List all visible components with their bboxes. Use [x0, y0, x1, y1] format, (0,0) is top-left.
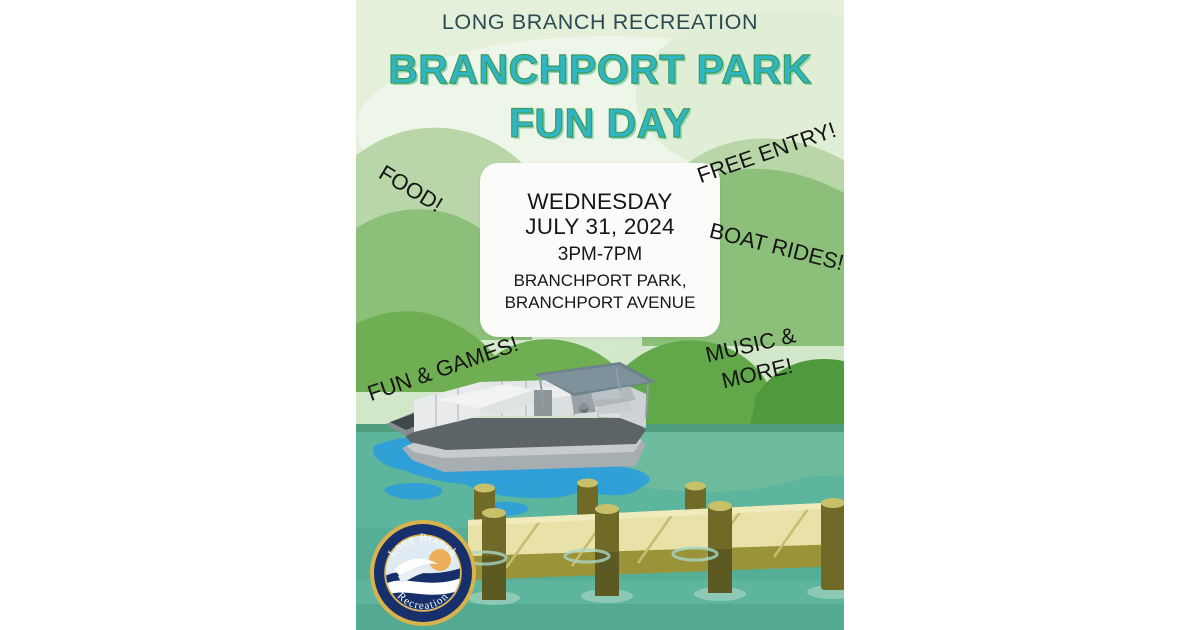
poster-eyebrow: LONG BRANCH RECREATION: [356, 10, 844, 35]
poster-title-line-1: BRANCHPORT PARK: [356, 46, 844, 93]
long-branch-recreation-logo: Long Branch Recreation: [368, 518, 478, 628]
event-flyer-poster: Long Branch Recreation LONG BRANCH RECRE…: [356, 0, 844, 630]
event-time: 3PM-7PM: [558, 244, 642, 265]
event-venue-line-1: BRANCHPORT PARK,: [514, 271, 687, 291]
event-info-card: WEDNESDAY JULY 31, 2024 3PM-7PM BRANCHPO…: [480, 163, 720, 337]
event-day: WEDNESDAY: [527, 189, 672, 214]
event-venue-line-2: BRANCHPORT AVENUE: [505, 293, 696, 313]
dock-deck: [468, 502, 844, 580]
event-date: JULY 31, 2024: [525, 214, 674, 239]
screenshot-canvas: Long Branch Recreation LONG BRANCH RECRE…: [0, 0, 1200, 630]
